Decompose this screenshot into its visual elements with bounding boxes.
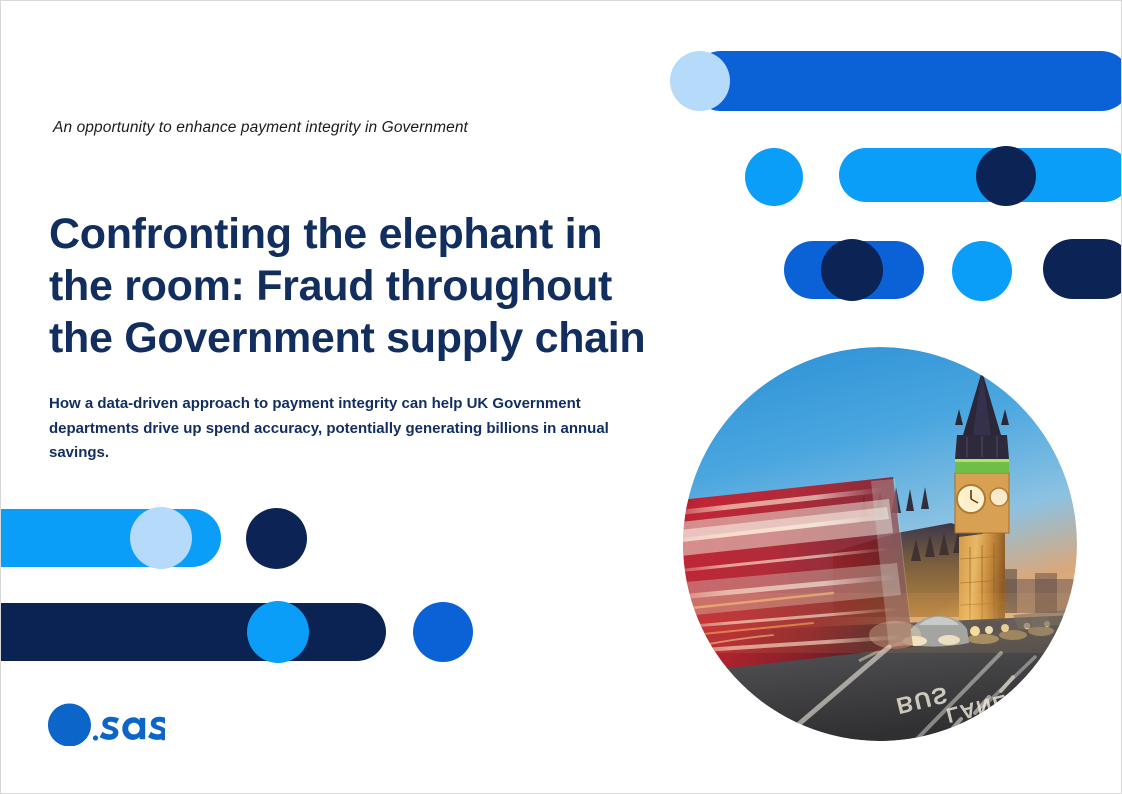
circle-navy-left [246, 508, 307, 569]
circle-navy [976, 146, 1036, 206]
sas-logo[interactable] [47, 701, 165, 747]
pill-bright-blue [839, 148, 1122, 202]
pill-medium-blue-2 [784, 241, 924, 299]
pill-bright-blue-left [1, 509, 221, 567]
circle-bright-blue-left [247, 601, 309, 663]
pill-navy [1043, 239, 1122, 299]
cover-page: BUS LANE An opportunity to enhance payme… [0, 0, 1122, 794]
circle-navy-2 [821, 239, 883, 301]
eyebrow-text: An opportunity to enhance payment integr… [53, 119, 468, 137]
circle-bright-blue [745, 148, 803, 206]
pill-navy-left [1, 603, 386, 661]
page-title: Confronting the elephant in the room: Fr… [49, 208, 669, 364]
subtitle-text: How a data-driven approach to payment in… [49, 392, 619, 466]
circle-bright-blue-2 [952, 241, 1012, 301]
circle-medium-blue-left [413, 602, 473, 662]
circle-light-blue [670, 51, 730, 111]
circle-light-blue-left [130, 507, 192, 569]
pill-medium-blue [691, 51, 1122, 111]
london-westminster-photo: BUS LANE [683, 347, 1077, 741]
